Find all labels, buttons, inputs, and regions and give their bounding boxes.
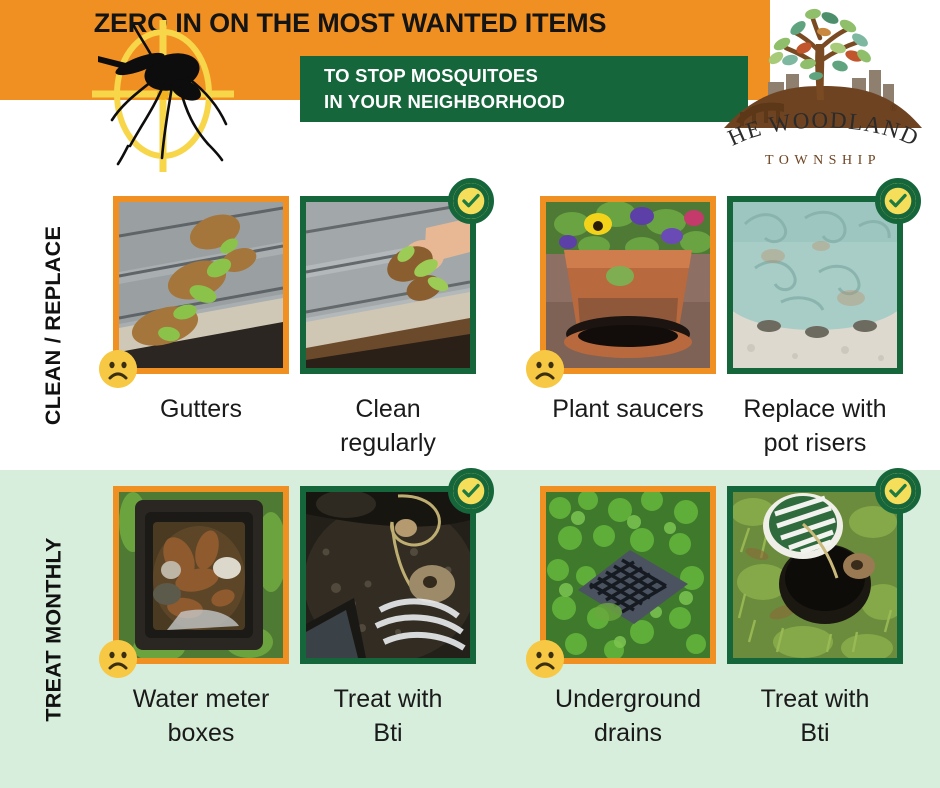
elevated-ceramic-pot-art bbox=[733, 202, 897, 368]
photo-wrap bbox=[727, 196, 903, 374]
storm-drain-in-clover-art bbox=[546, 492, 710, 658]
photo-wrap bbox=[113, 196, 289, 374]
caption-treat-with-bti-drain: Treat withBti bbox=[727, 682, 903, 750]
woodlands-township-logo: ® THE WOODLANDS TOWNSHIP bbox=[712, 4, 934, 169]
check-mark-icon bbox=[875, 468, 921, 514]
sad-face-icon bbox=[99, 350, 137, 388]
section-clean-replace: CLEAN / REPLACE bbox=[0, 180, 940, 470]
sad-face-icon bbox=[99, 640, 137, 678]
photo-plant-saucers bbox=[540, 196, 716, 374]
section-treat-monthly: TREAT MONTHLY bbox=[0, 470, 940, 788]
card-pair-saucers: Plant saucers bbox=[530, 180, 935, 470]
card-pair-water-meter: Water meterboxes bbox=[108, 470, 523, 788]
photo-pot-risers bbox=[727, 196, 903, 374]
card-treat-with-bti-meter[interactable]: Treat withBti bbox=[300, 486, 476, 750]
clogged-gutter-art bbox=[119, 202, 283, 368]
photo-wrap bbox=[113, 486, 289, 664]
row-label-clean-replace: CLEAN / REPLACE bbox=[0, 180, 108, 470]
photo-treated-meter-box bbox=[300, 486, 476, 664]
photo-wrap bbox=[727, 486, 903, 664]
photo-water-meter-boxes bbox=[113, 486, 289, 664]
photo-treated-drain bbox=[727, 486, 903, 664]
row-label-treat-monthly: TREAT MONTHLY bbox=[0, 470, 108, 788]
card-pair-drains: Undergrounddrains bbox=[530, 470, 935, 788]
treated-meter-box-art bbox=[306, 492, 470, 658]
caption-plant-saucers: Plant saucers bbox=[540, 392, 716, 426]
card-pair-gutters: Gutters bbox=[108, 180, 523, 470]
photo-wrap bbox=[540, 196, 716, 374]
photo-clean-regularly bbox=[300, 196, 476, 374]
banner-line-1: TO STOP MOSQUITOES bbox=[324, 56, 748, 89]
mosquito-crosshair-icon bbox=[68, 12, 258, 177]
card-plant-saucers[interactable]: Plant saucers bbox=[540, 196, 716, 426]
photo-wrap bbox=[540, 486, 716, 664]
photo-gutters bbox=[113, 196, 289, 374]
card-treat-with-bti-drain[interactable]: Treat withBti bbox=[727, 486, 903, 750]
card-pot-risers[interactable]: Replace withpot risers bbox=[727, 196, 903, 460]
open-drain-basin-in-lawn-art bbox=[733, 492, 897, 658]
photo-wrap bbox=[300, 196, 476, 374]
sad-face-icon bbox=[526, 350, 564, 388]
row-label-text: TREAT MONTHLY bbox=[42, 537, 67, 721]
banner-line-2: IN YOUR NEIGHBORHOOD bbox=[324, 89, 748, 115]
hand-cleaning-gutter-art bbox=[306, 202, 470, 368]
logo-name-secondary: TOWNSHIP bbox=[765, 153, 881, 168]
sad-face-icon bbox=[526, 640, 564, 678]
photo-underground-drains bbox=[540, 486, 716, 664]
photo-wrap bbox=[300, 486, 476, 664]
card-gutters[interactable]: Gutters bbox=[113, 196, 289, 426]
row-label-text: CLEAN / REPLACE bbox=[42, 225, 67, 424]
potted-plant-on-saucer-art bbox=[546, 202, 710, 368]
caption-clean-regularly: Cleanregularly bbox=[300, 392, 476, 460]
subtitle-banner: TO STOP MOSQUITOES IN YOUR NEIGHBORHOOD bbox=[300, 56, 748, 122]
card-water-meter-boxes[interactable]: Water meterboxes bbox=[113, 486, 289, 750]
check-mark-icon bbox=[448, 178, 494, 224]
header: ZERO IN ON THE MOST WANTED ITEMS bbox=[0, 0, 940, 180]
caption-pot-risers: Replace withpot risers bbox=[727, 392, 903, 460]
check-mark-icon bbox=[875, 178, 921, 224]
water-meter-box-art bbox=[119, 492, 283, 658]
caption-underground-drains: Undergrounddrains bbox=[540, 682, 716, 750]
caption-treat-with-bti-meter: Treat withBti bbox=[300, 682, 476, 750]
card-underground-drains[interactable]: Undergrounddrains bbox=[540, 486, 716, 750]
registered-mark: ® bbox=[890, 103, 897, 113]
caption-water-meter-boxes: Water meterboxes bbox=[113, 682, 289, 750]
card-clean-regularly[interactable]: Cleanregularly bbox=[300, 196, 476, 460]
caption-gutters: Gutters bbox=[113, 392, 289, 426]
check-mark-icon bbox=[448, 468, 494, 514]
